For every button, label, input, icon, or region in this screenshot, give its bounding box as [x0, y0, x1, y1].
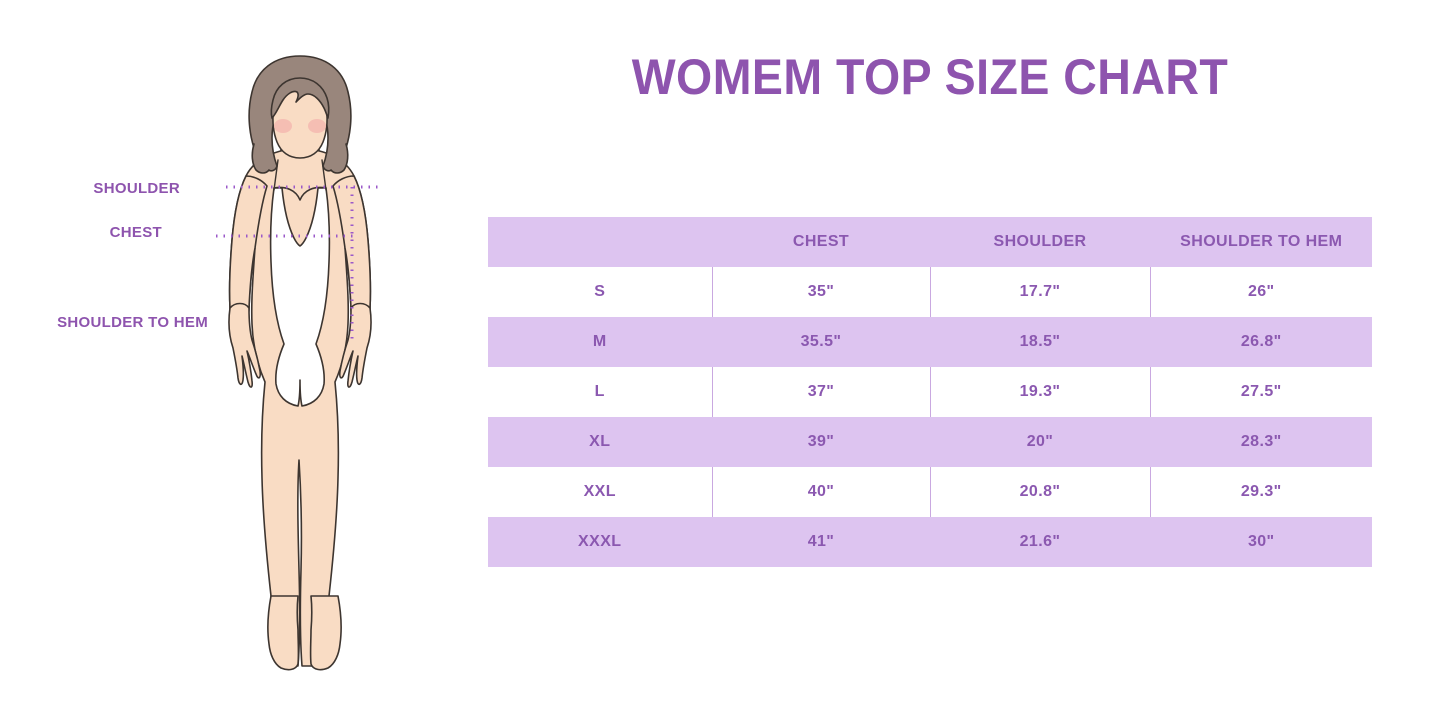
cell-shoulder: 19.3" [930, 367, 1150, 417]
cell-shoulder-to-hem: 27.5" [1150, 367, 1372, 417]
column-header-shoulder: SHOULDER [930, 217, 1150, 267]
cell-size: XXXL [488, 517, 712, 567]
cell-shoulder: 18.5" [930, 317, 1150, 367]
column-header-chest: CHEST [712, 217, 930, 267]
table-row: S 35" 17.7" 26" [488, 267, 1372, 317]
cell-shoulder: 20" [930, 417, 1150, 467]
cell-chest: 35.5" [712, 317, 930, 367]
table-header-row: CHEST SHOULDER SHOULDER TO HEM [488, 217, 1372, 267]
cell-chest: 41" [712, 517, 930, 567]
cell-shoulder: 20.8" [930, 467, 1150, 517]
cell-size: L [488, 367, 712, 417]
table-row: M 35.5" 18.5" 26.8" [488, 317, 1372, 367]
column-header-size [488, 217, 712, 267]
column-header-shoulder-to-hem: SHOULDER TO HEM [1150, 217, 1372, 267]
table-row: XXL 40" 20.8" 29.3" [488, 467, 1372, 517]
cell-shoulder-to-hem: 30" [1150, 517, 1372, 567]
cell-shoulder: 21.6" [930, 517, 1150, 567]
female-body-illustration [150, 40, 450, 690]
cell-chest: 35" [712, 267, 930, 317]
cell-chest: 37" [712, 367, 930, 417]
cell-shoulder-to-hem: 29.3" [1150, 467, 1372, 517]
page-title: WOMEM TOP SIZE CHART [519, 48, 1341, 106]
cell-shoulder-to-hem: 28.3" [1150, 417, 1372, 467]
cell-shoulder: 17.7" [930, 267, 1150, 317]
cell-size: XXL [488, 467, 712, 517]
cell-chest: 40" [712, 467, 930, 517]
size-chart-table: CHEST SHOULDER SHOULDER TO HEM S 35" 17.… [488, 217, 1372, 567]
table-row: XXXL 41" 21.6" 30" [488, 517, 1372, 567]
cell-shoulder-to-hem: 26" [1150, 267, 1372, 317]
cell-chest: 39" [712, 417, 930, 467]
cell-size: M [488, 317, 712, 367]
measurement-label-chest: CHEST [0, 224, 162, 241]
table-row: XL 39" 20" 28.3" [488, 417, 1372, 467]
cell-shoulder-to-hem: 26.8" [1150, 317, 1372, 367]
cell-size: S [488, 267, 712, 317]
table-row: L 37" 19.3" 27.5" [488, 367, 1372, 417]
cell-size: XL [488, 417, 712, 467]
